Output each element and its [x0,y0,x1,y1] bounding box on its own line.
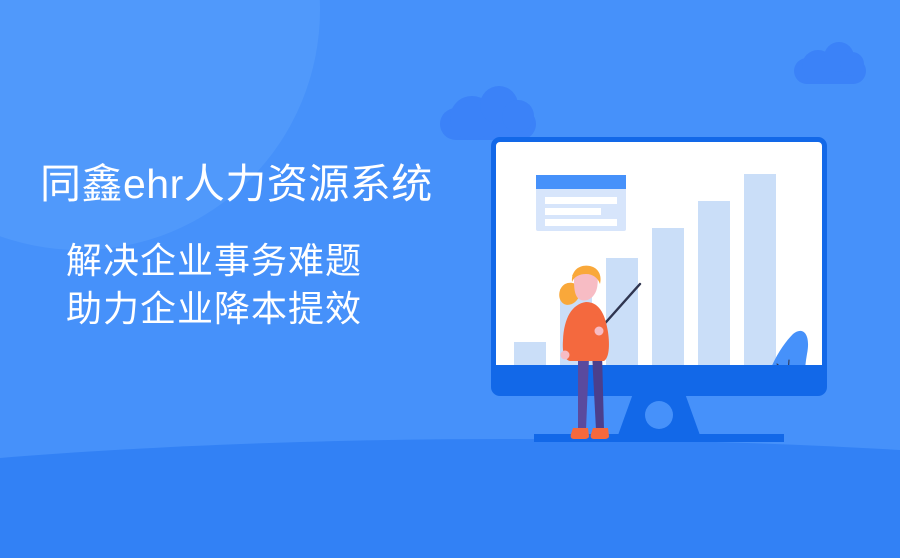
monitor-screen [496,142,822,365]
subtitle-line-2: 助力企业降本提效 [66,285,470,333]
monitor-bezel [491,365,827,396]
dashboard-card-line [545,208,601,215]
cloud-center-icon [440,86,536,140]
chart-bar [698,201,730,365]
dashboard-card-line [545,197,617,204]
hand-right [595,327,604,336]
shoe-right [591,428,609,439]
dashboard-card-line [545,219,617,226]
monitor-stand-dot [645,401,673,429]
presenter-illustration [552,262,642,442]
page-title: 同鑫ehr人力资源系统 [40,160,470,209]
shoe-left [571,428,589,439]
hand-left [561,351,570,360]
plant-illustration [749,314,822,365]
dashboard-card-header [536,175,626,189]
chart-bar [652,228,684,365]
promo-banner: 同鑫ehr人力资源系统 解决企业事务难题 助力企业降本提效 [0,0,900,558]
headline-block: 同鑫ehr人力资源系统 解决企业事务难题 助力企业降本提效 [40,160,470,332]
subtitle-block: 解决企业事务难题 助力企业降本提效 [66,237,470,332]
leg-right [592,352,604,430]
cloud-top-right-icon [794,42,866,84]
dashboard-card [536,175,626,231]
chart-bar [514,342,546,365]
subtitle-line-1: 解决企业事务难题 [66,237,470,285]
background-wave [0,428,900,558]
leg-left [578,352,589,430]
